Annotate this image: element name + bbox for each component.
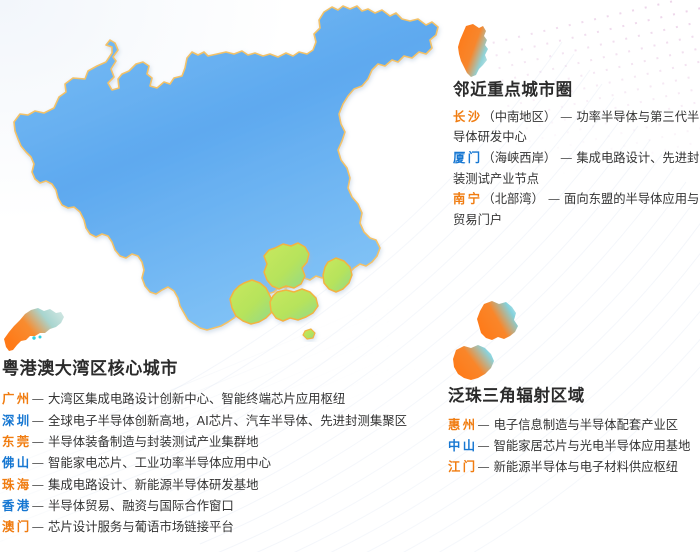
city-label: 南宁	[453, 192, 482, 206]
city-desc: 半导体装备制造与封装测试产业集群地	[48, 434, 259, 449]
neighbor-entry-list: 长沙（中南地区） — 功率半导体与第三代半导体研发中心 厦门（海峡西岸） — 集…	[452, 107, 700, 231]
city-desc: 智能家电芯片、工业功率半导体应用中心	[48, 455, 271, 470]
page-title-neighbor: 邻近重点城市圈	[453, 80, 700, 100]
dash: —	[32, 455, 44, 470]
city-desc: 芯片设计服务与葡语市场链接平台	[48, 519, 234, 534]
dash: —	[560, 151, 572, 165]
dash: —	[32, 434, 44, 449]
panel-gba-core-cities: 粤港澳大湾区核心城市 广州— 大湾区集成电路设计创新中心、智能终端芯片应用枢纽 …	[0, 303, 448, 538]
dash: —	[32, 498, 44, 513]
city-label: 长沙	[453, 110, 482, 124]
fujian-province-icon	[452, 22, 496, 80]
jiangxi-hunan-province-icon	[444, 298, 532, 386]
city-label: 澳门	[2, 519, 32, 534]
dash: —	[32, 413, 44, 428]
city-desc: 全球电子半导体创新高地，AI芯片、汽车半导体、先进封测集聚区	[48, 413, 407, 428]
panel-pan-prd-radiation: 泛珠三角辐射区域 惠州— 电子信息制造与半导体配套产业区 中山— 智能家居芯片与…	[444, 298, 700, 478]
dash: —	[477, 439, 489, 453]
dash: —	[548, 192, 560, 206]
city-label: 厦门	[453, 151, 482, 165]
list-item: 惠州— 电子信息制造与半导体配套产业区	[448, 415, 700, 436]
city-region: （中南地区）	[482, 110, 556, 124]
china-mainland-shape	[14, 6, 438, 330]
dash: —	[477, 460, 489, 474]
dash: —	[32, 519, 44, 534]
page-title-core: 粤港澳大湾区核心城市	[2, 359, 448, 379]
radiation-entry-list: 惠州— 电子信息制造与半导体配套产业区 中山— 智能家居芯片与光电半导体应用基地…	[444, 415, 700, 478]
city-desc: 智能家居芯片与光电半导体应用基地	[494, 439, 691, 453]
city-label: 深圳	[2, 413, 32, 428]
list-item: 南宁（北部湾） — 面向东盟的半导体应用与贸易门户	[453, 189, 700, 230]
dash: —	[32, 477, 44, 492]
city-label: 中山	[448, 439, 477, 453]
city-label: 惠州	[448, 418, 477, 432]
city-label: 广州	[2, 391, 32, 406]
list-item: 珠海— 集成电路设计、新能源半导体研发基地	[2, 474, 448, 495]
city-desc: 半导体贸易、融资与国际合作窗口	[48, 498, 234, 513]
list-item: 澳门— 芯片设计服务与葡语市场链接平台	[2, 516, 448, 537]
list-item: 深圳— 全球电子半导体创新高地，AI芯片、汽车半导体、先进封测集聚区	[2, 410, 448, 431]
list-item: 佛山— 智能家电芯片、工业功率半导体应用中心	[2, 452, 448, 473]
city-region: （北部湾）	[482, 192, 544, 206]
city-region: （海峡西岸）	[482, 151, 556, 165]
core-entry-list: 广州— 大湾区集成电路设计创新中心、智能终端芯片应用枢纽 深圳— 全球电子半导体…	[0, 388, 448, 537]
city-label: 香港	[2, 498, 32, 513]
city-label: 东莞	[2, 434, 32, 449]
list-item: 东莞— 半导体装备制造与封装测试产业集群地	[2, 431, 448, 452]
page-title-radiation: 泛珠三角辐射区域	[448, 386, 700, 406]
dash: —	[560, 110, 572, 124]
city-desc: 新能源半导体与电子材料供应枢纽	[494, 460, 678, 474]
city-label: 佛山	[2, 455, 32, 470]
dash: —	[32, 391, 44, 406]
china-map	[2, 0, 454, 342]
city-desc: 电子信息制造与半导体配套产业区	[494, 418, 678, 432]
list-item: 江门— 新能源半导体与电子材料供应枢纽	[448, 457, 700, 478]
city-desc: 大湾区集成电路设计创新中心、智能终端芯片应用枢纽	[48, 391, 345, 406]
list-item: 香港— 半导体贸易、融资与国际合作窗口	[2, 495, 448, 516]
list-item: 厦门（海峡西岸） — 集成电路设计、先进封装测试产业节点	[453, 148, 700, 189]
list-item: 中山— 智能家居芯片与光电半导体应用基地	[448, 436, 700, 457]
city-desc: 集成电路设计、新能源半导体研发基地	[48, 477, 259, 492]
dash: —	[477, 418, 489, 432]
list-item: 长沙（中南地区） — 功率半导体与第三代半导体研发中心	[453, 107, 700, 148]
hunan-province	[264, 243, 309, 289]
list-item: 广州— 大湾区集成电路设计创新中心、智能终端芯片应用枢纽	[2, 388, 448, 409]
city-label: 珠海	[2, 477, 32, 492]
city-label: 江门	[448, 460, 477, 474]
guangdong-province-icon	[0, 303, 72, 359]
panel-neighbor-city-circles: 邻近重点城市圈 长沙（中南地区） — 功率半导体与第三代半导体研发中心 厦门（海…	[452, 22, 700, 231]
